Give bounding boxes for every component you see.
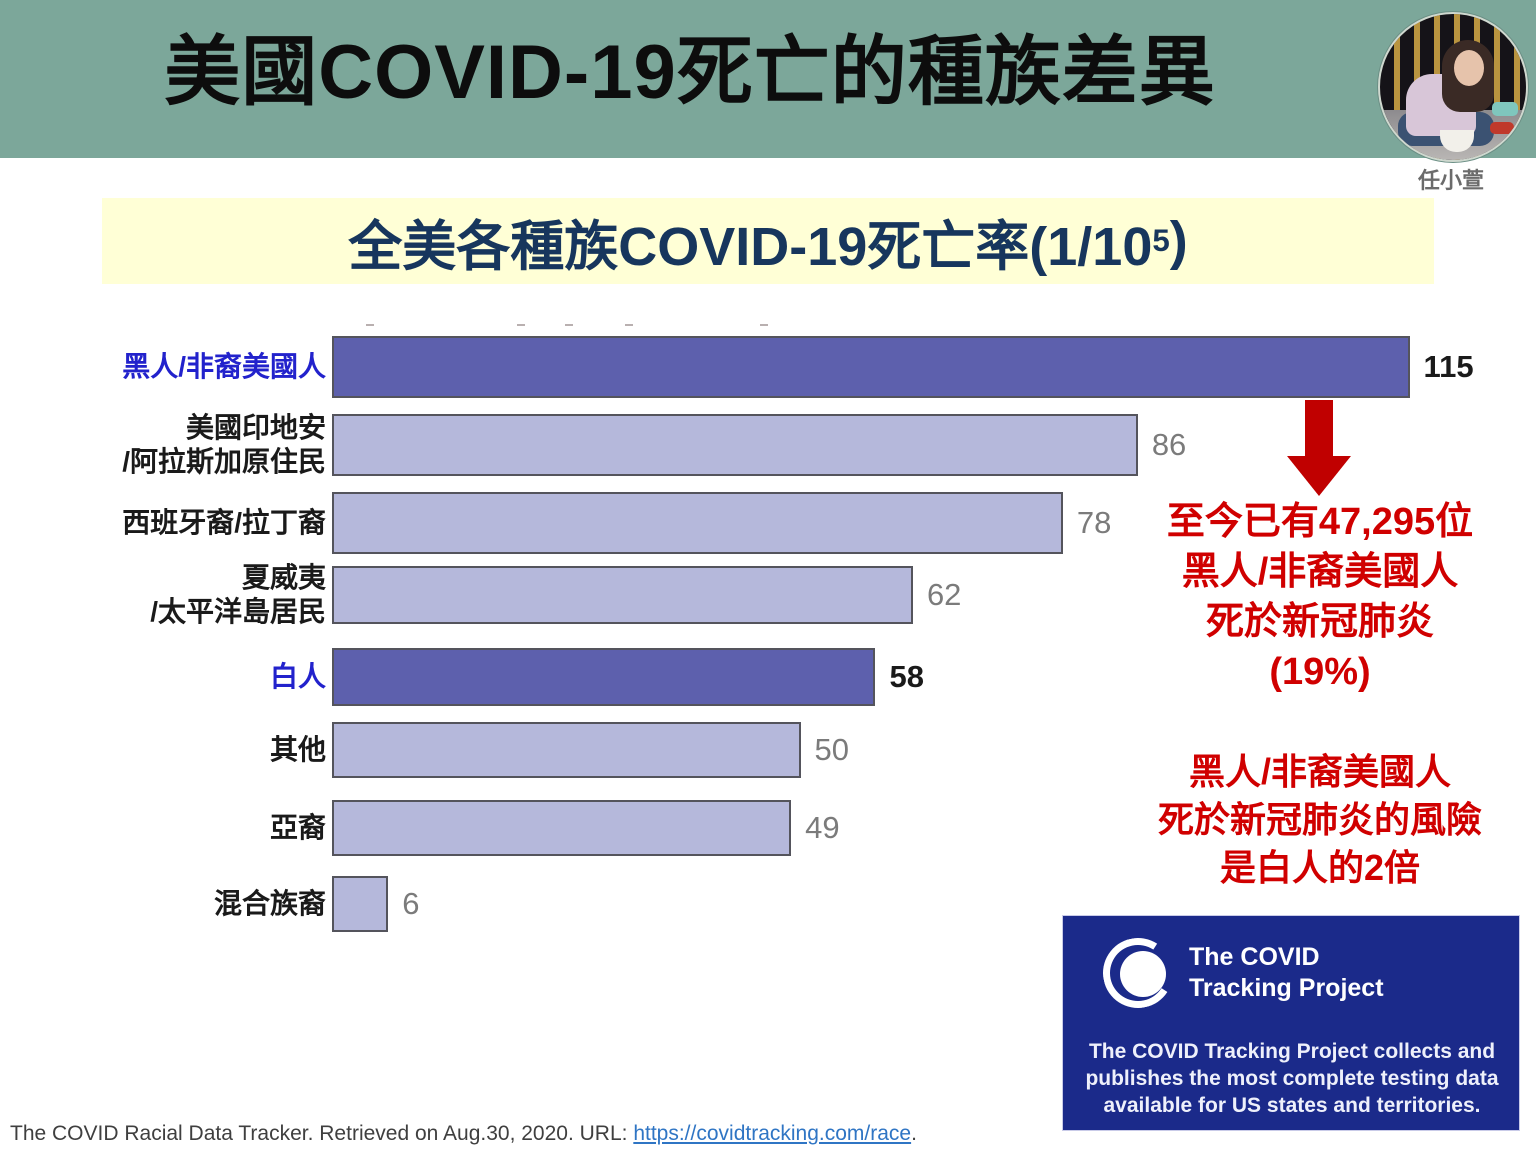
bar-category-label: 混合族裔 xyxy=(0,887,326,921)
avatar-red-object xyxy=(1490,122,1514,134)
annotation-deaths-count: 至今已有47,295位 黑人/非裔美國人 死於新冠肺炎 (19%) xyxy=(1110,497,1530,697)
source-citation: The COVID Racial Data Tracker. Retrieved… xyxy=(10,1122,917,1146)
ctp-description: The COVID Tracking Project collects and … xyxy=(1077,1038,1507,1119)
ctp-brand-name: The COVID Tracking Project xyxy=(1189,942,1384,1004)
source-url-link[interactable]: https://covidtracking.com/race xyxy=(633,1122,911,1145)
bar-track xyxy=(332,414,1138,476)
bar-fill xyxy=(332,492,1063,554)
bar-track xyxy=(332,800,791,856)
red-down-arrow-icon xyxy=(1287,400,1351,496)
bar-fill xyxy=(332,566,913,624)
citation-text-before: The COVID Racial Data Tracker. Retrieved… xyxy=(10,1122,633,1145)
bar-fill xyxy=(332,648,875,706)
avatar-face xyxy=(1454,50,1484,86)
bar-value-label: 78 xyxy=(1077,505,1111,541)
bar-category-label: 西班牙裔/拉丁裔 xyxy=(0,506,326,540)
bar-track xyxy=(332,648,875,706)
bar-category-label: 夏威夷 /太平洋島居民 xyxy=(0,561,326,629)
bar-value-label: 62 xyxy=(927,577,961,613)
bar-category-label: 黑人/非裔美國人 xyxy=(0,350,326,384)
axis-tickmarks xyxy=(332,318,1412,334)
bar-fill xyxy=(332,722,801,778)
bar-value-label: 86 xyxy=(1152,427,1186,463)
logo-dot xyxy=(1120,951,1166,997)
tick-mark xyxy=(517,324,525,326)
arrow-shaft xyxy=(1305,400,1333,458)
covid-tracking-project-card[interactable]: The COVID Tracking Project The COVID Tra… xyxy=(1062,915,1520,1131)
chart-title-main: 全美各種族COVID-19死亡率(1/10 xyxy=(348,202,1152,281)
page-title: 美國COVID-19死亡的種族差異 xyxy=(0,18,1380,128)
tick-mark xyxy=(565,324,573,326)
bar-track xyxy=(332,722,801,778)
bar-category-label: 美國印地安 /阿拉斯加原住民 xyxy=(0,411,326,479)
bar-fill xyxy=(332,336,1410,398)
arrow-head xyxy=(1287,456,1351,496)
bar-fill xyxy=(332,876,388,932)
tick-mark xyxy=(760,324,768,326)
bar-category-label: 其他 xyxy=(0,733,326,767)
chart-title-tail: ) xyxy=(1170,210,1188,272)
annotation-risk-ratio: 黑人/非裔美國人 死於新冠肺炎的風險 是白人的2倍 xyxy=(1110,748,1530,892)
bar-row: 黑人/非裔美國人115 xyxy=(0,336,1536,398)
bar-category-label: 白人 xyxy=(0,660,326,694)
bar-value-label: 50 xyxy=(815,732,849,768)
tick-mark xyxy=(625,324,633,326)
bar-track xyxy=(332,566,913,624)
avatar-teal-object xyxy=(1492,102,1518,116)
bar-fill xyxy=(332,414,1138,476)
avatar xyxy=(1378,12,1528,162)
ctp-logo-row: The COVID Tracking Project xyxy=(1103,938,1384,1008)
avatar-name-label: 任小萱 xyxy=(1378,163,1524,195)
bar-fill xyxy=(332,800,791,856)
bar-track xyxy=(332,876,388,932)
citation-text-after: . xyxy=(911,1122,917,1145)
bar-value-label: 58 xyxy=(889,659,923,695)
bar-category-label: 亞裔 xyxy=(0,811,326,845)
chart-title: 全美各種族COVID-19死亡率(1/105) xyxy=(102,198,1434,284)
bar-track xyxy=(332,492,1063,554)
covid-tracking-project-logo-icon xyxy=(1103,938,1173,1008)
bar-track xyxy=(332,336,1410,398)
bar-value-label: 115 xyxy=(1424,349,1474,385)
tick-mark xyxy=(366,324,374,326)
bar-value-label: 49 xyxy=(805,810,839,846)
bar-value-label: 6 xyxy=(402,886,419,922)
